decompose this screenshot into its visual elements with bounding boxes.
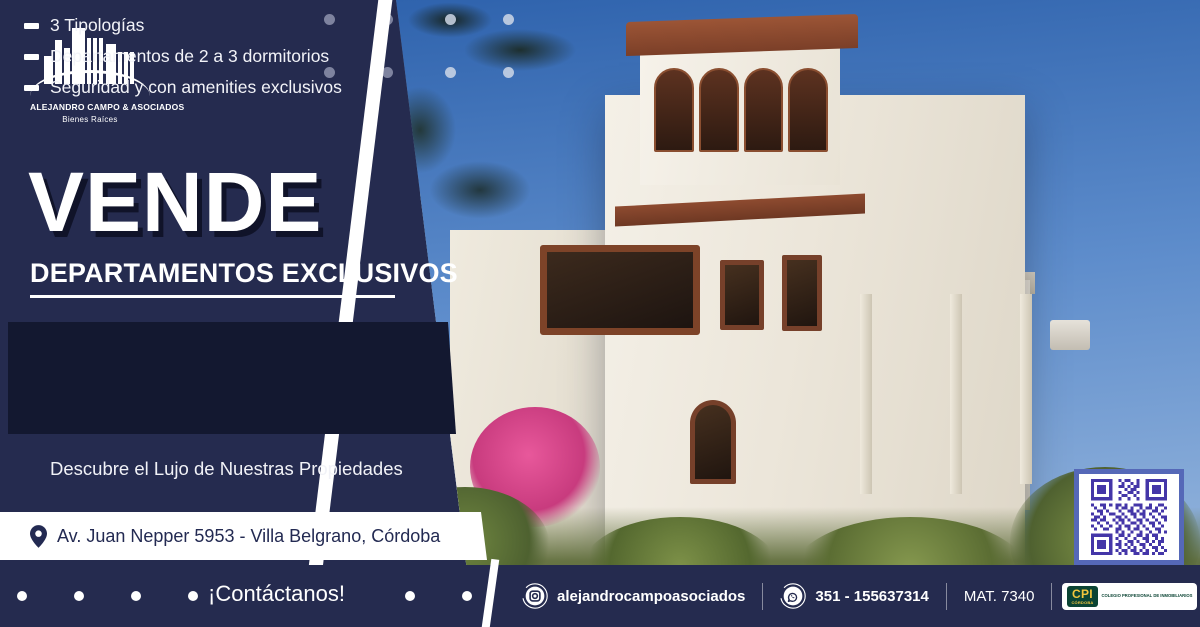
subtitle-underline [30,295,395,298]
decorative-dot [188,591,198,601]
feature-text: Departamentos de 2 a 3 dormitorios [50,46,329,67]
address-text: Av. Juan Nepper 5953 - Villa Belgrano, C… [57,526,440,547]
instagram-handle: alejandrocampoasociados [557,588,745,605]
entry-window [690,400,736,484]
whatsapp-icon [780,583,806,609]
address-bar: Av. Juan Nepper 5953 - Villa Belgrano, C… [0,512,487,560]
features-list: 3 Tipologías Departamentos de 2 a 3 dorm… [24,10,342,103]
decorative-dot [131,591,141,601]
decorative-dot [74,591,84,601]
dash-bullet-icon [24,23,39,29]
footer-decoration: ¡Contáctanos! [0,565,400,627]
air-conditioner-unit [1050,320,1090,350]
location-pin-icon [30,525,47,548]
contact-cta: ¡Contáctanos! [208,581,345,607]
list-item: 3 Tipologías [24,10,342,41]
porch-column [1020,294,1032,484]
cpi-full-name: COLEGIO PROFESIONAL DE INMOBILIARIOS [1102,593,1193,599]
feature-text: Seguridad y con amenities exclusivos [50,77,342,98]
cpi-badge: CPI CÓRDOBA COLEGIO PROFESIONAL DE INMOB… [1062,583,1197,610]
decorative-dot [17,591,27,601]
porch-column [860,294,872,494]
cpi-logo: CPI CÓRDOBA [1067,586,1097,607]
footer-diagonal-divider [481,559,499,627]
cpi-abbr: CPI [1071,588,1093,600]
page-subtitle: DEPARTAMENTOS EXCLUSIVOS [30,258,458,289]
porch-column [950,294,962,494]
features-panel [8,322,456,434]
whatsapp-contact[interactable]: 351 - 155637314 [763,583,945,609]
instagram-contact[interactable]: alejandrocampoasociados [505,583,762,609]
cpi-city: CÓRDOBA [1071,601,1093,605]
page-title: VENDE [28,160,322,244]
window [720,260,764,330]
feature-text: 3 Tipologías [50,15,144,36]
qr-code[interactable] [1074,469,1184,565]
real-estate-ad-poster: ALEJANDRO CAMPO & ASOCIADOS Bienes Raíce… [0,0,1200,627]
qr-code-image [1084,479,1174,555]
instagram-icon [522,583,548,609]
decorative-dot [462,591,472,601]
logo-company-name: ALEJANDRO CAMPO & ASOCIADOS [30,102,150,112]
tagline: Descubre el Lujo de Nuestras Propiedades [50,458,403,480]
whatsapp-phone: 351 - 155637314 [815,588,928,605]
decorative-dot [405,591,415,601]
window [782,255,822,331]
list-item: Departamentos de 2 a 3 dormitorios [24,41,342,72]
dash-bullet-icon [24,85,39,91]
license-number: MAT. 7340 [947,588,1052,605]
logo-tagline: Bienes Raíces [30,115,150,124]
dash-bullet-icon [24,54,39,60]
list-item: Seguridad y con amenities exclusivos [24,72,342,103]
footer-bar: ¡Contáctanos! alejandrocampoasociados [0,565,1200,627]
footer-contacts: alejandrocampoasociados 351 - 155637314 … [505,565,1197,627]
divider [1051,583,1052,610]
